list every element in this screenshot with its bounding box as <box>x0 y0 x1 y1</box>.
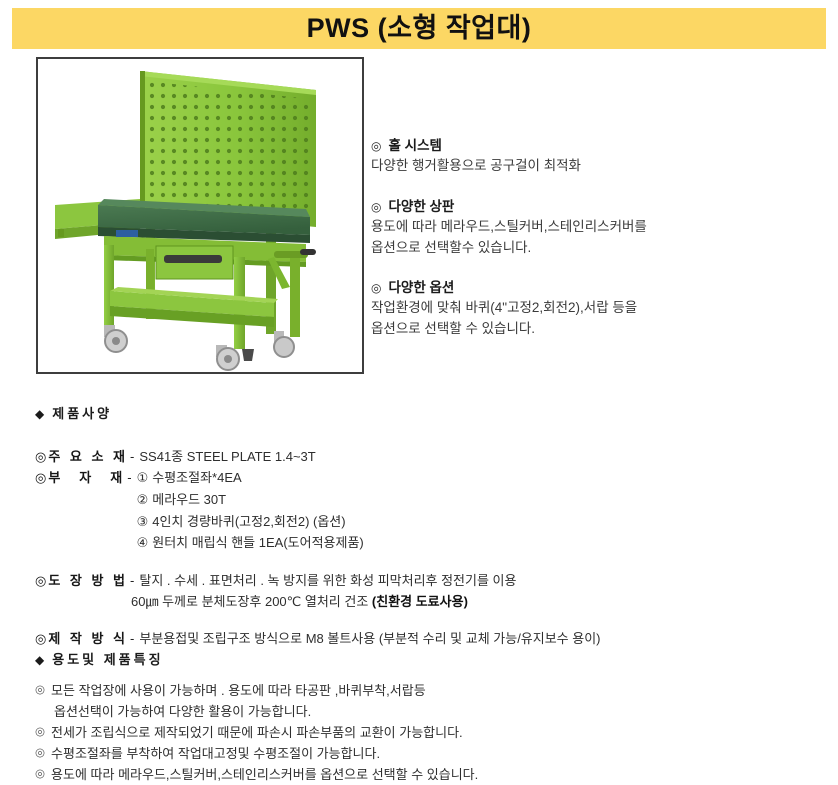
feature-heading: ◎다양한 옵션 <box>371 278 821 298</box>
spec-dash: - <box>127 467 131 488</box>
feature-line: 용도에 따라 메라우드,스틸커버,스테인리스커버를 <box>371 217 821 238</box>
double-circle-icon: ◎ <box>371 281 381 295</box>
usage-item-2: ◎ 전세가 조립식으로 제작되었기 때문에 파손시 파손부품의 교환이 가능합니… <box>35 722 825 743</box>
spec-row-main-material: ◎주 요 소 재 - SS41종 STEEL PLATE 1.4~3T <box>35 446 825 467</box>
spec-label: ◎부 자 재 <box>35 467 125 488</box>
spec-value: 탈지 . 수세 . 표면처리 . 녹 방지를 위한 화성 피막처리후 정전기를 … <box>139 570 516 591</box>
double-circle-icon: ◎ <box>35 722 45 742</box>
brand-plate <box>116 230 138 237</box>
double-circle-icon: ◎ <box>371 139 381 153</box>
double-circle-icon: ◎ <box>35 743 45 763</box>
spec-label: ◎도 장 방 법 <box>35 570 128 591</box>
spec-value: 부분용접및 조립구조 방식으로 M8 볼트사용 (부분적 수리 및 교체 가능/… <box>139 628 600 649</box>
spec-value: SS41종 STEEL PLATE 1.4~3T <box>139 446 315 467</box>
list-item-text: 메라우드 30T <box>152 492 226 507</box>
list-item-text: 수평조절좌*4EA <box>152 470 241 485</box>
leveling-foot <box>242 349 254 361</box>
circled-number-icon: ④ <box>137 535 149 550</box>
list-item: ②메라우드 30T <box>137 489 364 511</box>
spec-dash: - <box>130 446 134 467</box>
feature-list: ◎홀 시스템 다양한 행거활용으로 공구걸이 최적화 ◎다양한 상판 용도에 따… <box>371 136 821 359</box>
spec-painting-temp-text: 60㎛ 두께로 분체도장후 200℃ 열처리 건조 <box>131 594 372 609</box>
feature-line: 작업환경에 맞춰 바퀴(4"고정2,회전2),서랍 등을 <box>371 298 821 319</box>
usage-item-text: 수평조절좌를 부착하여 작업대고정및 수평조절이 가능합니다. <box>51 743 380 764</box>
spec-label-text: 주 요 소 재 <box>48 449 128 464</box>
double-circle-icon: ◎ <box>35 680 45 700</box>
usage-section-title-text: 용도및 제품특징 <box>52 652 163 667</box>
spec-label: ◎주 요 소 재 <box>35 446 128 467</box>
usage-section: ◆용도및 제품특징 ◎ 모든 작업장에 사용이 가능하며 . 용도에 따라 타공… <box>35 650 825 785</box>
usage-item-3: ◎ 수평조절좌를 부착하여 작업대고정및 수평조절이 가능합니다. <box>35 743 825 764</box>
list-item-text: 원터치 매립식 핸들 1EA(도어적용제품) <box>152 535 364 550</box>
feature-block-worktop: ◎다양한 상판 용도에 따라 메라우드,스틸커버,스테인리스커버를 옵션으로 선… <box>371 197 821 258</box>
diamond-icon: ◆ <box>35 653 44 667</box>
spec-label-text: 제 작 방 식 <box>48 631 128 646</box>
feature-heading: ◎홀 시스템 <box>371 136 821 156</box>
feature-line: 옵션으로 선택할 수 있습니다. <box>371 319 821 340</box>
spec-dash: - <box>130 628 134 649</box>
spec-dash: - <box>130 570 134 591</box>
list-item: ①수평조절좌*4EA <box>137 467 364 489</box>
spec-sub-item-list: ①수평조절좌*4EA ②메라우드 30T ③4인치 경량바퀴(고정2,회전2) … <box>137 467 364 554</box>
feature-block-options: ◎다양한 옵션 작업환경에 맞춰 바퀴(4"고정2,회전2),서랍 등을 옵션으… <box>371 278 821 339</box>
circled-number-icon: ① <box>137 470 149 485</box>
specification-section: ◆제품사양 ◎주 요 소 재 - SS41종 STEEL PLATE 1.4~3… <box>35 404 825 649</box>
feature-heading-text: 다양한 상판 <box>388 199 454 214</box>
double-circle-icon: ◎ <box>35 631 46 646</box>
list-item: ③4인치 경량바퀴(고정2,회전2) (옵션) <box>137 511 364 533</box>
spec-label: ◎제 작 방 식 <box>35 628 128 649</box>
spec-section-title-text: 제품사양 <box>52 406 112 421</box>
drawer-handle <box>164 255 222 263</box>
double-circle-icon: ◎ <box>35 449 46 464</box>
double-circle-icon: ◎ <box>35 573 46 588</box>
double-circle-icon: ◎ <box>35 470 46 485</box>
spec-row-manufacture-method: ◎제 작 방 식 - 부분용접및 조립구조 방식으로 M8 볼트사용 (부분적 … <box>35 628 825 649</box>
usage-item-1: ◎ 모든 작업장에 사용이 가능하며 . 용도에 따라 타공판 ,바퀴부착,서랍… <box>35 680 825 701</box>
page-title: PWS (소형 작업대) <box>307 15 532 42</box>
feature-heading: ◎다양한 상판 <box>371 197 821 217</box>
list-item-text: 4인치 경량바퀴(고정2,회전2) (옵션) <box>152 514 345 529</box>
spec-label-text: 부 자 재 <box>48 470 125 485</box>
circled-number-icon: ② <box>137 492 149 507</box>
spec-section-title: ◆제품사양 <box>35 404 825 425</box>
usage-item-4: ◎ 용도에 따라 메라우드,스틸커버,스테인리스커버를 옵션으로 선택할 수 있… <box>35 764 825 785</box>
list-item: ④원터치 매립식 핸들 1EA(도어적용제품) <box>137 532 364 554</box>
feature-block-hole-system: ◎홀 시스템 다양한 행거활용으로 공구걸이 최적화 <box>371 136 821 177</box>
circled-number-icon: ③ <box>137 514 149 529</box>
product-photo-workbench <box>38 59 362 372</box>
usage-item-text: 전세가 조립식으로 제작되었기 때문에 파손시 파손부품의 교환이 가능합니다. <box>51 722 463 743</box>
spec-row-sub-material: ◎부 자 재 - ①수평조절좌*4EA ②메라우드 30T ③4인치 경량바퀴(… <box>35 467 825 554</box>
spec-painting-eco-note: (친환경 도료사용) <box>372 594 468 609</box>
drawer <box>156 246 233 279</box>
page-title-banner: PWS (소형 작업대) <box>12 8 826 49</box>
double-circle-icon: ◎ <box>35 764 45 784</box>
spec-label-text: 도 장 방 법 <box>48 573 128 588</box>
feature-line: 옵션으로 선택할수 있습니다. <box>371 238 821 259</box>
product-photo-frame <box>36 57 364 374</box>
usage-item-text: 모든 작업장에 사용이 가능하며 . 용도에 따라 타공판 ,바퀴부착,서랍등 <box>51 680 426 701</box>
feature-line: 다양한 행거활용으로 공구걸이 최적화 <box>371 156 821 177</box>
spec-painting-second-line: 60㎛ 두께로 분체도장후 200℃ 열처리 건조 (친환경 도료사용) <box>35 591 825 612</box>
feature-heading-text: 다양한 옵션 <box>388 280 454 295</box>
usage-item-1-continued: 옵션선택이 가능하여 다양한 활용이 가능합니다. <box>35 701 825 722</box>
double-circle-icon: ◎ <box>371 200 381 214</box>
usage-item-text: 용도에 따라 메라우드,스틸커버,스테인리스커버를 옵션으로 선택할 수 있습니… <box>51 764 478 785</box>
diamond-icon: ◆ <box>35 407 44 421</box>
usage-section-title: ◆용도및 제품특징 <box>35 650 825 671</box>
feature-heading-text: 홀 시스템 <box>388 138 441 153</box>
spec-row-painting-method: ◎도 장 방 법 - 탈지 . 수세 . 표면처리 . 녹 방지를 위한 화성 … <box>35 570 825 591</box>
